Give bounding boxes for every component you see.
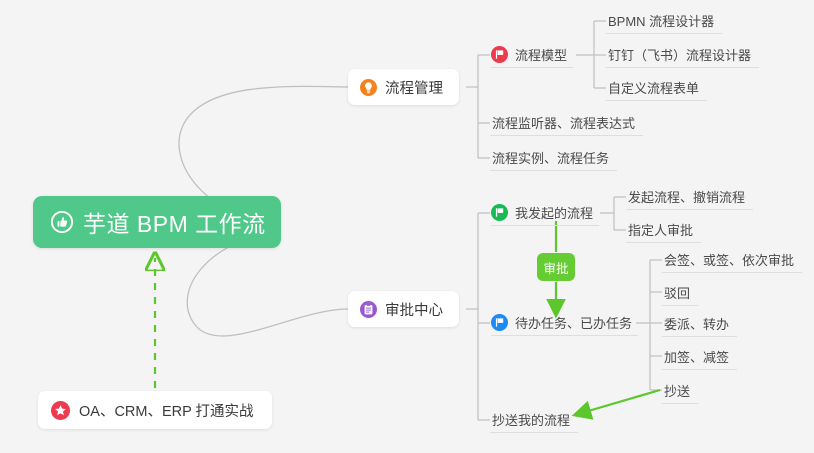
leaf-node-custom-form[interactable]: 自定义流程表单 — [606, 75, 707, 101]
leaf-node-bpmn-designer[interactable]: BPMN 流程设计器 — [606, 8, 722, 34]
leaf-node-dingtalk-designer[interactable]: 钉钉（飞书）流程设计器 — [606, 42, 759, 68]
leaf-label: BPMN 流程设计器 — [608, 11, 714, 30]
callout-node-integration[interactable]: OA、CRM、ERP 打通实战 — [38, 391, 272, 429]
flow-badge-label: 审批 — [543, 258, 568, 277]
leaf-label: 自定义流程表单 — [608, 78, 699, 97]
leaf-label: 发起流程、撤销流程 — [628, 187, 745, 206]
leaf-node-cc-to-me[interactable]: 抄送我的流程 — [490, 407, 578, 433]
leaf-label: 流程监听器、流程表达式 — [492, 113, 635, 132]
clipboard-icon — [360, 301, 377, 318]
leaf-label: 流程实例、流程任务 — [492, 148, 609, 167]
leaf-label: 加签、减签 — [664, 347, 729, 366]
leaf-label: 钉钉（飞书）流程设计器 — [608, 45, 751, 64]
leaf-node-add-remove-sign[interactable]: 加签、减签 — [662, 344, 737, 370]
flow-arrow-cc-to-cc-list — [578, 390, 660, 414]
flow-badge-approval[interactable]: 审批 — [537, 253, 575, 281]
sub-node-my-initiated[interactable]: 我发起的流程 — [491, 200, 599, 226]
sub-node-label: 我发起的流程 — [515, 203, 593, 222]
lightbulb-icon — [360, 79, 377, 96]
leaf-node-start-cancel-process[interactable]: 发起流程、撤销流程 — [626, 184, 753, 210]
flag-icon-red — [491, 46, 508, 63]
sub-node-label: 待办任务、已办任务 — [515, 313, 632, 332]
flag-icon-green — [491, 204, 508, 221]
leaf-label: 抄送 — [664, 381, 690, 400]
leaf-node-countersign[interactable]: 会签、或签、依次审批 — [662, 247, 802, 273]
leaf-label: 委派、转办 — [664, 314, 729, 333]
root-node[interactable]: 芋道 BPM 工作流 — [33, 196, 281, 248]
leaf-node-cc[interactable]: 抄送 — [662, 378, 698, 404]
leaf-label: 驳回 — [664, 283, 690, 302]
leaf-label: 抄送我的流程 — [492, 410, 570, 429]
branch-node-approval-center[interactable]: 审批中心 — [348, 291, 459, 327]
leaf-node-delegate-transfer[interactable]: 委派、转办 — [662, 311, 737, 337]
leaf-node-assignee-approval[interactable]: 指定人审批 — [626, 217, 701, 243]
branch-label: 流程管理 — [385, 77, 443, 98]
root-label: 芋道 BPM 工作流 — [83, 205, 266, 239]
sub-node-todo-done-tasks[interactable]: 待办任务、已办任务 — [491, 310, 638, 336]
callout-label: OA、CRM、ERP 打通实战 — [79, 400, 254, 421]
star-icon — [51, 401, 70, 420]
leaf-node-reject[interactable]: 驳回 — [662, 280, 698, 306]
leaf-node-instance-task[interactable]: 流程实例、流程任务 — [490, 145, 617, 171]
branch-label: 审批中心 — [385, 299, 443, 320]
sub-node-process-model[interactable]: 流程模型 — [491, 42, 573, 68]
leaf-label: 指定人审批 — [628, 220, 693, 239]
mindmap-canvas: 芋道 BPM 工作流 流程管理 审批中心 — [0, 0, 814, 453]
leaf-node-listener-expression[interactable]: 流程监听器、流程表达式 — [490, 110, 643, 136]
leaf-label: 会签、或签、依次审批 — [664, 250, 794, 269]
flag-icon-blue — [491, 314, 508, 331]
branch-node-process-management[interactable]: 流程管理 — [348, 69, 459, 105]
sub-node-label: 流程模型 — [515, 45, 567, 64]
thumbs-up-icon — [51, 211, 73, 233]
